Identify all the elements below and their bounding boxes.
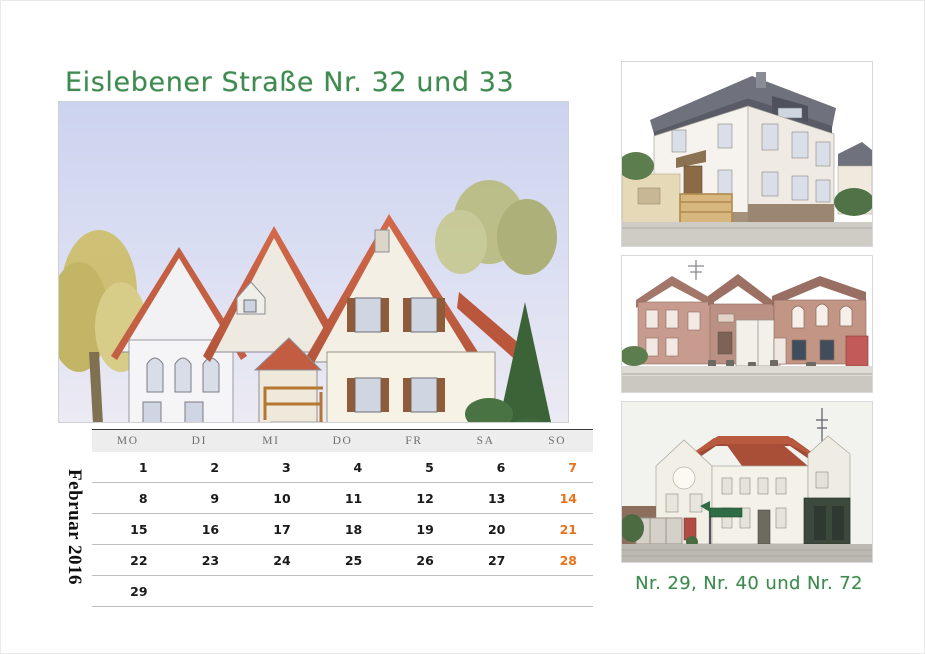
day-cell[interactable]: 6 <box>450 452 522 483</box>
day-cell[interactable]: 29 <box>92 576 164 607</box>
day-cell-empty <box>235 576 307 607</box>
day-cell[interactable]: 4 <box>307 452 379 483</box>
day-cell[interactable]: 9 <box>164 483 236 514</box>
calendar-week-row: 29 <box>92 576 593 607</box>
day-cell[interactable]: 16 <box>164 514 236 545</box>
day-cell[interactable]: 11 <box>307 483 379 514</box>
month-label: Februar 2016 <box>57 453 91 601</box>
day-cell[interactable]: 25 <box>307 545 379 576</box>
weekday-header-so: SO <box>521 430 593 453</box>
day-cell-sunday[interactable]: 14 <box>521 483 593 514</box>
calendar-week-row: 8 9 10 11 12 13 14 <box>92 483 593 514</box>
day-cell[interactable]: 26 <box>378 545 450 576</box>
day-cell-empty <box>521 576 593 607</box>
day-cell[interactable]: 22 <box>92 545 164 576</box>
day-cell[interactable]: 2 <box>164 452 236 483</box>
day-cell[interactable]: 20 <box>450 514 522 545</box>
photo-nr-40-illustration <box>622 256 872 392</box>
page-title: Eislebener Straße Nr. 32 und 33 <box>65 67 514 98</box>
calendar-table: MO DI MI DO FR SA SO 1 2 3 4 5 6 7 <box>92 429 593 607</box>
photo-nr-72-illustration <box>622 402 872 562</box>
day-cell-empty <box>307 576 379 607</box>
photo-nr-29-illustration <box>622 62 872 246</box>
weekday-header-sa: SA <box>450 430 522 453</box>
day-cell[interactable]: 1 <box>92 452 164 483</box>
main-photo <box>58 101 569 423</box>
day-cell[interactable]: 23 <box>164 545 236 576</box>
day-cell[interactable]: 27 <box>450 545 522 576</box>
weekday-header-di: DI <box>164 430 236 453</box>
day-cell[interactable]: 17 <box>235 514 307 545</box>
day-cell[interactable]: 12 <box>378 483 450 514</box>
day-cell[interactable]: 19 <box>378 514 450 545</box>
weekday-header-row: MO DI MI DO FR SA SO <box>92 430 593 453</box>
day-cell[interactable]: 10 <box>235 483 307 514</box>
day-cell[interactable]: 8 <box>92 483 164 514</box>
day-cell-sunday[interactable]: 21 <box>521 514 593 545</box>
month-label-text: Februar 2016 <box>63 469 85 585</box>
day-cell-empty <box>450 576 522 607</box>
photo-nr-72 <box>621 401 873 563</box>
day-cell[interactable]: 5 <box>378 452 450 483</box>
main-photo-illustration <box>59 102 569 423</box>
day-cell[interactable]: 24 <box>235 545 307 576</box>
day-cell[interactable]: 18 <box>307 514 379 545</box>
day-cell-sunday[interactable]: 7 <box>521 452 593 483</box>
day-cell[interactable]: 13 <box>450 483 522 514</box>
calendar-week-row: 15 16 17 18 19 20 21 <box>92 514 593 545</box>
day-cell-empty <box>378 576 450 607</box>
day-cell-empty <box>164 576 236 607</box>
calendar-week-row: 22 23 24 25 26 27 28 <box>92 545 593 576</box>
weekday-header-mo: MO <box>92 430 164 453</box>
photo-nr-29 <box>621 61 873 247</box>
weekday-header-mi: MI <box>235 430 307 453</box>
day-cell[interactable]: 15 <box>92 514 164 545</box>
photo-nr-40 <box>621 255 873 393</box>
photo-caption: Nr. 29, Nr. 40 und Nr. 72 <box>623 573 875 594</box>
day-cell[interactable]: 3 <box>235 452 307 483</box>
day-cell-sunday[interactable]: 28 <box>521 545 593 576</box>
weekday-header-do: DO <box>307 430 379 453</box>
calendar-week-row: 1 2 3 4 5 6 7 <box>92 452 593 483</box>
calendar-page: Eislebener Straße Nr. 32 und 33 <box>0 0 925 654</box>
weekday-header-fr: FR <box>378 430 450 453</box>
